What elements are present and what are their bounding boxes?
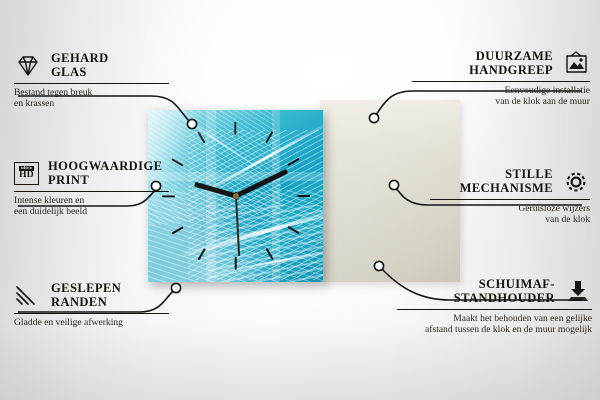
feature-divider (14, 191, 169, 192)
feature-title-block: HOOGWAARDIGE PRINT (48, 160, 162, 187)
clock-tick (288, 225, 300, 234)
feature-heading: SCHUIMAF- STANDHOUDER (397, 278, 592, 305)
feature-description-line2: van de klok (430, 214, 590, 225)
feature-title-line1: HOOGWAARDIGE (48, 160, 162, 174)
feature-title-block: STILLE MECHANISME (460, 168, 553, 195)
feature-description-line2: van de klok aan de muur (412, 96, 590, 107)
feature-title-line2: RANDEN (51, 296, 121, 310)
ultra-hd-badge-main: HD (19, 171, 34, 181)
feature-title-block: GEHARD GLAS (51, 52, 109, 79)
clock-tick (234, 257, 236, 270)
clock-minute-hand (232, 169, 288, 200)
feature-title-line1: DUURZAME (469, 50, 553, 64)
press-down-icon (564, 279, 592, 305)
feature-divider (412, 81, 590, 82)
feature-heading: STILLE MECHANISME (430, 168, 590, 195)
feature-description-line1: Geruisloze wijzers (430, 203, 590, 214)
clock-tick (265, 131, 274, 143)
feature-heading: GEHARD GLAS (14, 52, 174, 79)
feature-divider (397, 309, 592, 310)
glass-reflection (206, 110, 216, 282)
feather-texture (208, 205, 323, 282)
feather-texture (188, 130, 323, 280)
feature-title-block: GESLEPEN RANDEN (51, 282, 121, 309)
feature-title-line1: STILLE (460, 168, 553, 182)
diamond-icon (14, 54, 42, 78)
feature-description-line1: Gladde en veilige afwerking (14, 317, 174, 328)
feature-title-line1: SCHUIMAF- (454, 278, 555, 292)
light-streak (171, 204, 323, 260)
feature-divider (430, 199, 590, 200)
clock-tick (288, 158, 300, 167)
feature-title-line2: STANDHOUDER (454, 292, 555, 306)
feature-heading: GESLEPEN RANDEN (14, 282, 174, 309)
feature-heading: DUURZAME HANDGREEP (412, 50, 590, 77)
feature-description-line1: Bestand tegen breuk (14, 87, 174, 98)
clock-tick (171, 225, 183, 234)
feature-duurzame-handgreep: DUURZAME HANDGREEP Eenvoudige installati… (412, 50, 590, 108)
feature-title-line2: PRINT (48, 174, 162, 188)
feature-title-line2: MECHANISME (460, 182, 553, 196)
glass-clock-face (148, 110, 323, 282)
feature-divider (14, 83, 169, 84)
feature-title-line2: GLAS (51, 66, 109, 80)
feature-description-line2: en krassen (14, 98, 174, 109)
beveled-edges-icon (14, 284, 42, 308)
clock-tick (297, 195, 310, 197)
feature-divider (14, 313, 169, 314)
clock-center-cap (233, 193, 239, 199)
feature-title-block: SCHUIMAF- STANDHOUDER (454, 278, 555, 305)
feature-title-line1: GESLEPEN (51, 282, 121, 296)
clock-tick (197, 131, 206, 143)
picture-hanger-icon (562, 51, 590, 77)
feature-title-line1: GEHARD (51, 52, 109, 66)
clock-tick (265, 248, 274, 260)
feature-description-line1: Eenvoudige installatie (412, 85, 590, 96)
feature-hoogwaardige-print: ultra HD HOOGWAARDIGE PRINT Intense kleu… (14, 160, 174, 218)
clock-second-hand (234, 192, 239, 256)
gear-icon (562, 169, 590, 195)
clock-tick (197, 248, 206, 260)
feature-stille-mechanisme: STILLE MECHANISME Geruisloze wijzers van… (430, 168, 590, 226)
ultra-hd-icon: ultra HD (14, 162, 39, 185)
feature-description-line1: Intense kleuren en (14, 195, 174, 206)
feature-geslepen-randen: GESLEPEN RANDEN Gladde en veilige afwerk… (14, 282, 174, 328)
feature-title-block: DUURZAME HANDGREEP (469, 50, 553, 77)
light-streak (204, 246, 323, 277)
feature-description-line2: een duidelijk beeld (14, 206, 174, 217)
feature-gehard-glas: GEHARD GLAS Bestand tegen breuk en krass… (14, 52, 174, 110)
clock-tick (234, 122, 236, 135)
feature-schuimaf-standhouder: SCHUIMAF- STANDHOUDER Maakt het behouden… (397, 278, 592, 336)
feature-heading: ultra HD HOOGWAARDIGE PRINT (14, 160, 174, 187)
infographic-canvas: GEHARD GLAS Bestand tegen breuk en krass… (0, 0, 600, 400)
glass-reflection (272, 110, 280, 282)
feature-description-line1: Maakt het behouden van een gelijke (397, 313, 592, 324)
feature-title-line2: HANDGREEP (469, 64, 553, 78)
feature-description-line2: afstand tussen de klok en de muur mogeli… (397, 324, 592, 335)
glass-reflection (148, 172, 323, 181)
